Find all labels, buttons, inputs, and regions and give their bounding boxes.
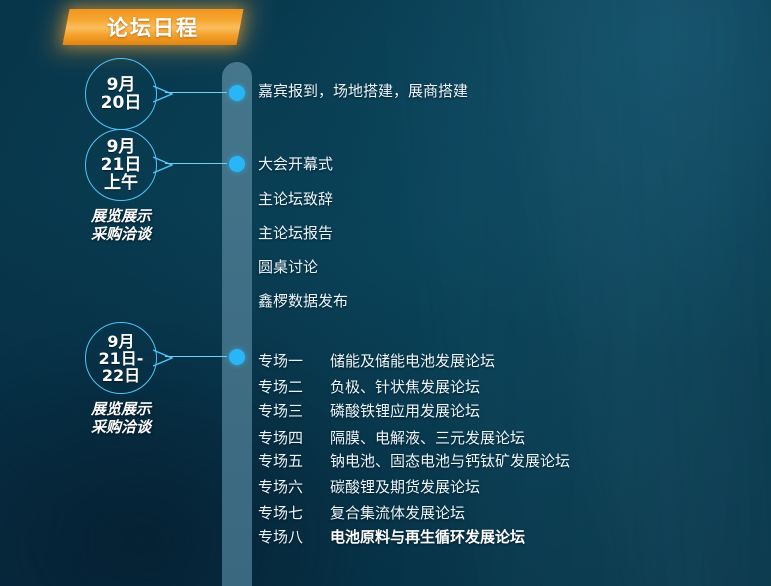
date-line: 上午 [104,174,138,192]
timeline-dot-1 [229,85,245,101]
node-subtitle: 采购洽谈 [66,224,176,244]
session-number: 专场三 [258,400,330,421]
session-name: 负极、针状焦发展论坛 [330,376,480,397]
session-row: 专场四 隔膜、电解液、三元发展论坛 [258,427,525,448]
schedule-item: 圆桌讨论 [258,258,318,276]
date-line: 9月 [107,333,134,350]
forum-schedule-poster: 论坛日程 9月 20日 嘉宾报到，场地搭建，展商搭建 9月 21日 上午 展览展… [0,0,771,586]
page-title: 论坛日程 [66,9,240,45]
bubble-tail-icon [153,85,173,103]
timeline-node-1: 9月 20日 [85,58,157,130]
session-number: 专场二 [258,376,330,397]
timeline-dot-3 [229,349,245,365]
schedule-item: 大会开幕式 [258,155,333,173]
session-number: 专场七 [258,502,330,523]
date-bubble-1: 9月 20日 [85,58,157,130]
node-subtitle: 展览展示 [66,399,176,419]
date-line: 21日 [101,156,142,174]
node-subtitle: 采购洽谈 [66,417,176,437]
date-line: 22日 [102,367,140,384]
session-row: 专场七 复合集流体发展论坛 [258,502,465,523]
session-name: 碳酸锂及期货发展论坛 [330,476,480,497]
session-name: 隔膜、电解液、三元发展论坛 [330,427,525,448]
schedule-item: 鑫椤数据发布 [258,292,348,310]
timeline-node-3: 9月 21日- 22日 展览展示 采购洽谈 [85,322,176,437]
session-number: 专场一 [258,350,330,371]
background-sweep-far-right [451,0,771,586]
date-line: 9月 [107,76,136,94]
session-number: 专场五 [258,450,330,471]
date-line: 21日- [99,350,144,367]
bubble-tail-icon [153,349,173,367]
date-bubble-2: 9月 21日 上午 [85,129,157,201]
date-line: 9月 [107,138,136,156]
session-row: 专场一 储能及储能电池发展论坛 [258,350,495,371]
session-row: 专场二 负极、针状焦发展论坛 [258,376,480,397]
session-number: 专场八 [258,526,330,547]
session-number: 专场六 [258,476,330,497]
date-bubble-3: 9月 21日- 22日 [85,322,157,394]
session-name: 钠电池、固态电池与钙钛矿发展论坛 [330,450,570,471]
node-subtitle: 展览展示 [66,206,176,226]
connector-line-2 [165,163,227,164]
schedule-item: 主论坛报告 [258,224,333,242]
session-number: 专场四 [258,427,330,448]
timeline-node-2: 9月 21日 上午 展览展示 采购洽谈 [85,129,176,244]
timeline-bar [222,62,252,586]
session-name: 复合集流体发展论坛 [330,502,465,523]
session-row: 专场六 碳酸锂及期货发展论坛 [258,476,480,497]
banner: 论坛日程 [66,9,240,45]
timeline-dot-2 [229,156,245,172]
schedule-item: 嘉宾报到，场地搭建，展商搭建 [258,82,468,100]
session-name: 电池原料与再生循环发展论坛 [330,526,525,547]
session-row: 专场八 电池原料与再生循环发展论坛 [258,526,525,547]
session-row: 专场三 磷酸铁锂应用发展论坛 [258,400,480,421]
date-line: 20日 [101,94,142,112]
schedule-item: 主论坛致辞 [258,190,333,208]
connector-line-3 [165,356,227,357]
session-row: 专场五 钠电池、固态电池与钙钛矿发展论坛 [258,450,570,471]
session-name: 储能及储能电池发展论坛 [330,350,495,371]
bubble-tail-icon [153,156,173,174]
session-name: 磷酸铁锂应用发展论坛 [330,400,480,421]
connector-line-1 [165,92,227,93]
